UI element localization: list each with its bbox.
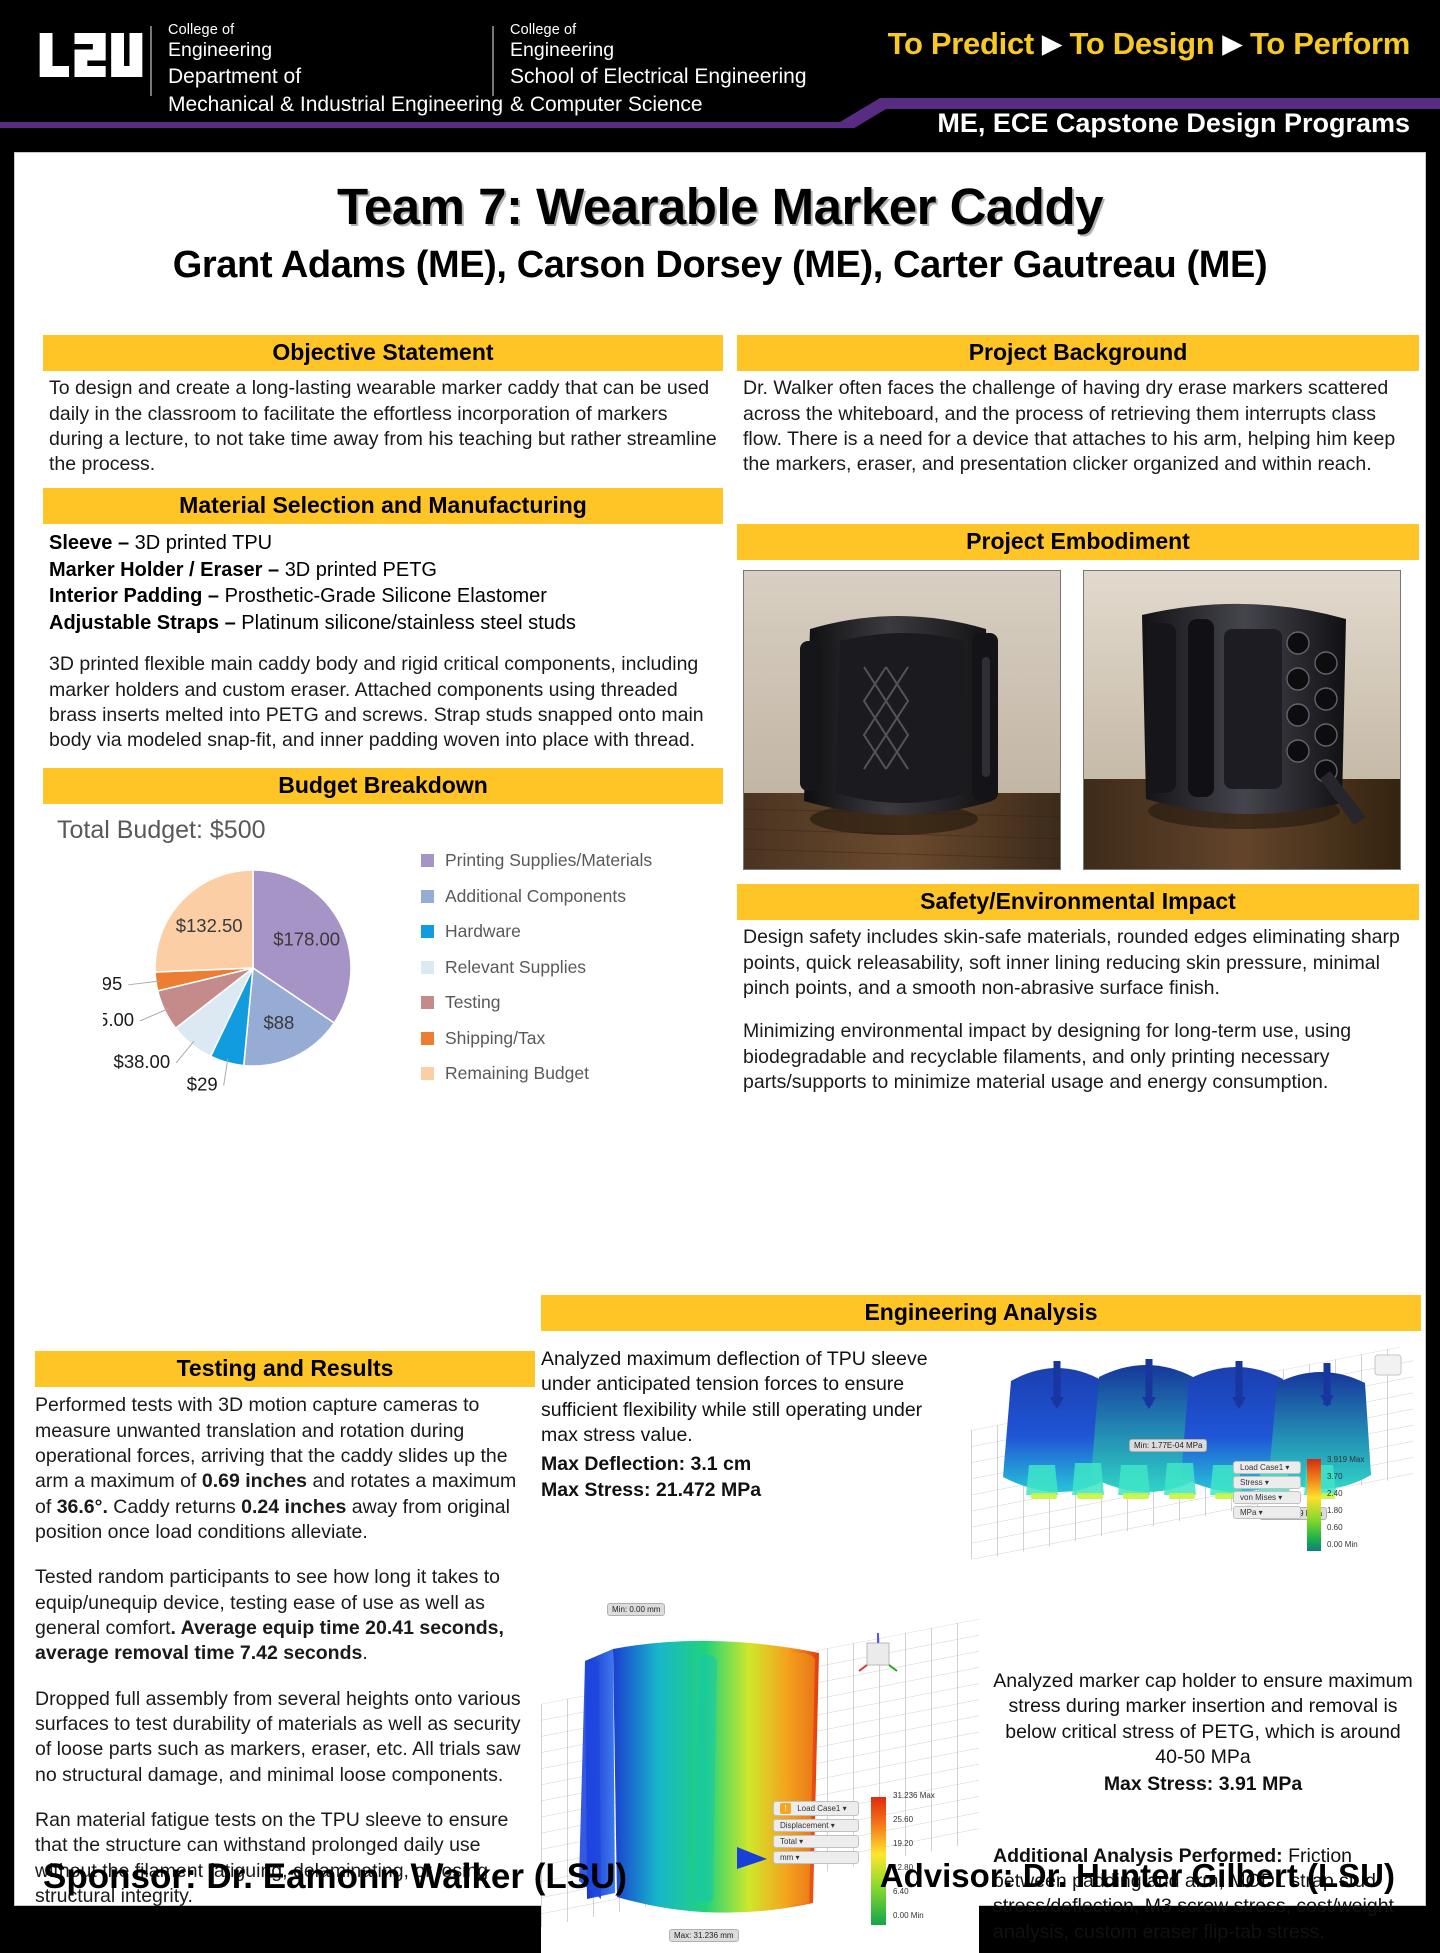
axis-triad-icon xyxy=(857,1631,901,1675)
pie-svg: $178.00$88$29$38.00$35.00$15.95$132.50 xyxy=(103,848,403,1098)
fea-top-min-tag: Min: 1.77E-04 MPa xyxy=(1129,1439,1207,1452)
fea-top-panel-row4: MPa xyxy=(1240,1508,1256,1517)
legend-swatch xyxy=(421,925,434,938)
budget-section: Budget Breakdown Total Budget: $500 $178… xyxy=(43,768,723,1108)
fea-bottom-panel-row4: mm xyxy=(780,1853,793,1862)
fea-top-colorbar xyxy=(1307,1459,1323,1551)
poster-canvas: Team 7: Wearable Marker Caddy Grant Adam… xyxy=(14,152,1426,1906)
material-paragraph: 3D printed flexible main caddy body and … xyxy=(49,652,717,753)
author-list: Grant Adams (ME), Carson Dorsey (ME), Ca… xyxy=(15,244,1425,287)
fea-image-top: Min: 1.77E-04 MPa Max: 3.919 MPa Load Ca… xyxy=(971,1347,1413,1559)
pie-slice-label: $15.95 xyxy=(103,973,122,994)
fea-image-bottom: Min: 0.00 mm Max: 31.236 mm ! Load Case1… xyxy=(541,1593,979,1953)
legend-swatch xyxy=(421,1067,434,1080)
legend-swatch xyxy=(421,961,434,974)
fea-bottom-panel-row2: Displacement xyxy=(780,1821,828,1830)
fea-bottom-min-tag: Min: 0.00 mm xyxy=(607,1603,665,1616)
safety-paragraph-2: Minimizing environmental impact by desig… xyxy=(743,1019,1413,1095)
legend-item: Printing Supplies/Materials xyxy=(421,852,652,870)
embodiment-photos xyxy=(737,570,1419,870)
pie-leader-line xyxy=(140,1009,168,1021)
testing-p2-c: . xyxy=(362,1642,367,1664)
pie-slice-label: $38.00 xyxy=(114,1051,171,1072)
embodiment-section: Project Embodiment xyxy=(737,524,1419,870)
analysis-bottom-row: Min: 0.00 mm Max: 31.236 mm ! Load Case1… xyxy=(541,1593,1421,1953)
material-heading: Material Selection and Manufacturing xyxy=(43,488,723,524)
material-label-3: Adjustable Straps – xyxy=(49,612,236,634)
fea-top-scale-3: 1.80 xyxy=(1327,1506,1364,1523)
pie-slice-label: $178.00 xyxy=(273,929,340,950)
fea-bottom-scale-5: 0.00 Min xyxy=(893,1911,935,1920)
budget-pie-chart: Total Budget: $500 $178.00$88$29$38.00$3… xyxy=(43,808,723,1108)
testing-paragraph-2: Tested random participants to see how lo… xyxy=(35,1565,535,1666)
tagline-perform: To Perform xyxy=(1250,26,1410,61)
testing-p1-f: 0.24 inches xyxy=(241,1496,346,1518)
legend-label: Testing xyxy=(445,994,500,1012)
legend-label: Printing Supplies/Materials xyxy=(445,852,652,870)
testing-p1-b: 0.69 inches xyxy=(202,1470,307,1492)
material-item-0: Sleeve – 3D printed TPU xyxy=(49,530,717,557)
testing-paragraph-3: Dropped full assembly from several heigh… xyxy=(35,1687,535,1788)
material-item-1: Marker Holder / Eraser – 3D printed PETG xyxy=(49,557,717,584)
chart-legend: Printing Supplies/MaterialsAdditional Co… xyxy=(421,852,652,1101)
dept-one-line3: Department of xyxy=(168,65,503,90)
analysis-max-stress: Max Stress: 21.472 MPa xyxy=(541,1479,761,1501)
background-section: Project Background Dr. Walker often face… xyxy=(737,335,1419,478)
pie-leader-line xyxy=(176,1041,194,1063)
pie-slice-label: $29 xyxy=(187,1074,218,1095)
analysis-intro: Analyzed maximum deflection of TPU sleev… xyxy=(541,1347,961,1448)
fea-bottom-panel-title: Load Case1 xyxy=(797,1804,840,1813)
background-text: Dr. Walker often faces the challenge of … xyxy=(743,376,1413,477)
legend-swatch xyxy=(421,890,434,903)
page-header: College of Engineering Department of Mec… xyxy=(0,0,1440,148)
fea-bottom-panel-row3: Total xyxy=(780,1837,797,1846)
testing-paragraph-1: Performed tests with 3D motion capture c… xyxy=(35,1393,535,1545)
capstone-subtitle: ME, ECE Capstone Design Programs xyxy=(937,108,1410,139)
dept-two-line3: School of Electrical Engineering xyxy=(510,65,807,90)
testing-heading: Testing and Results xyxy=(35,1351,535,1387)
tagline: To Predict ▶ To Design ▶ To Perform xyxy=(888,26,1410,62)
fea-top-panel-row2: Stress xyxy=(1240,1478,1263,1487)
testing-section: Testing and Results Performed tests with… xyxy=(35,1351,535,1909)
fea-top-scale-1: 3.70 xyxy=(1327,1472,1364,1489)
budget-heading: Budget Breakdown xyxy=(43,768,723,804)
dept-one-line2: Engineering xyxy=(168,39,503,62)
fea-bottom-scale-0: 31.236 Max xyxy=(893,1791,935,1815)
pie-slice-label: $132.50 xyxy=(176,915,243,936)
fea-bottom-scale-1: 25.60 xyxy=(893,1815,935,1839)
objective-text: To design and create a long-lasting wear… xyxy=(49,376,717,477)
material-value-2: Prosthetic-Grade Silicone Elastomer xyxy=(225,585,547,607)
legend-item: Relevant Supplies xyxy=(421,959,652,977)
legend-label: Shipping/Tax xyxy=(445,1030,545,1048)
dept-two-line1: College of xyxy=(510,22,807,39)
tagline-design: To Design xyxy=(1070,26,1215,61)
material-value-3: Platinum silicone/stainless steel studs xyxy=(241,612,576,634)
legend-label: Remaining Budget xyxy=(445,1065,589,1083)
material-list: Sleeve – 3D printed TPU Marker Holder / … xyxy=(49,530,717,636)
safety-heading: Safety/Environmental Impact xyxy=(737,884,1419,920)
legend-item: Hardware xyxy=(421,923,652,941)
sponsor-label: Sponsor: Dr. Eamonn Walker (LSU) xyxy=(43,1857,627,1897)
fea-bottom-max-tag: Max: 31.236 mm xyxy=(669,1929,739,1942)
legend-item: Shipping/Tax xyxy=(421,1030,652,1048)
material-value-0: 3D printed TPU xyxy=(135,532,272,554)
fea-bottom-panel: ! Load Case1 ▾ Displacement ▾ Total ▾ mm… xyxy=(773,1801,859,1864)
analysis-max-deflection: Max Deflection: 3.1 cm xyxy=(541,1453,751,1475)
pie-slice-label: $35.00 xyxy=(103,1009,134,1030)
analysis-right-max-stress: Max Stress: 3.91 MPa xyxy=(1104,1773,1302,1795)
legend-swatch xyxy=(421,996,434,1009)
fea-top-panel-title: Load Case1 xyxy=(1240,1463,1283,1472)
right-column: Project Background Dr. Walker often face… xyxy=(737,335,1419,1097)
tagline-predict: To Predict xyxy=(888,26,1034,61)
background-heading: Project Background xyxy=(737,335,1419,371)
triangle-right-icon: ▶ xyxy=(1042,30,1061,58)
legend-item: Remaining Budget xyxy=(421,1065,652,1083)
testing-p1-e: Caddy returns xyxy=(108,1496,241,1518)
dept-two-line2: Engineering xyxy=(510,39,807,62)
legend-swatch xyxy=(421,1032,434,1045)
page-title: Team 7: Wearable Marker Caddy xyxy=(15,177,1425,236)
material-label-0: Sleeve – xyxy=(49,532,129,554)
legend-item: Additional Components xyxy=(421,888,652,906)
triangle-right-icon-2: ▶ xyxy=(1223,30,1242,58)
objective-section: Objective Statement To design and create… xyxy=(43,335,723,478)
analysis-top-text: Analyzed maximum deflection of TPU sleev… xyxy=(541,1347,961,1559)
pie-leader-line xyxy=(128,981,160,985)
budget-total-label: Total Budget: $500 xyxy=(57,816,266,845)
header-divider-1 xyxy=(150,26,152,96)
analysis-right-text: Analyzed marker cap holder to ensure max… xyxy=(993,1593,1413,1953)
analysis-right-note: Analyzed marker cap holder to ensure max… xyxy=(993,1669,1413,1770)
material-item-3: Adjustable Straps – Platinum silicone/st… xyxy=(49,610,717,637)
fea-bottom-scale: 31.236 Max 25.60 19.20 12.80 6.40 0.00 M… xyxy=(893,1791,935,1920)
fea-top-scale-5: 0.00 Min xyxy=(1327,1540,1364,1557)
legend-label: Relevant Supplies xyxy=(445,959,586,977)
legend-label: Hardware xyxy=(445,923,521,941)
legend-item: Testing xyxy=(421,994,652,1012)
material-section: Material Selection and Manufacturing Sle… xyxy=(43,488,723,754)
testing-p1-d: 36.6°. xyxy=(57,1496,108,1518)
left-column: Objective Statement To design and create… xyxy=(43,335,723,1110)
lsu-logo xyxy=(36,28,146,82)
dept-one-line1: College of xyxy=(168,22,503,39)
fea-top-scale-4: 0.60 xyxy=(1327,1523,1364,1540)
material-label-2: Interior Padding – xyxy=(49,585,219,607)
safety-section: Safety/Environmental Impact Design safet… xyxy=(737,884,1419,1095)
material-label-1: Marker Holder / Eraser – xyxy=(49,559,279,581)
legend-label: Additional Components xyxy=(445,888,626,906)
embodiment-photo-1 xyxy=(743,570,1061,870)
fea-top-scale-0: 3.919 Max xyxy=(1327,1455,1364,1472)
advisor-label: Advisor: Dr. Hunter Gilbert (LSU) xyxy=(880,1857,1395,1895)
warning-icon: ! xyxy=(780,1803,791,1814)
embodiment-photo-2 xyxy=(1083,570,1401,870)
embodiment-heading: Project Embodiment xyxy=(737,524,1419,560)
safety-paragraph-1: Design safety includes skin-safe materia… xyxy=(743,925,1413,1001)
pie-slice-label: $88 xyxy=(263,1012,294,1033)
fea-top-scale-2: 2.40 xyxy=(1327,1489,1364,1506)
material-item-2: Interior Padding – Prosthetic-Grade Sili… xyxy=(49,583,717,610)
objective-heading: Objective Statement xyxy=(43,335,723,371)
fea-top-panel-row3: von Mises xyxy=(1240,1493,1276,1502)
fea-top-panel: Load Case1 ▾ Stress ▾ von Mises ▾ MPa ▾ xyxy=(1233,1461,1301,1519)
material-value-1: 3D printed PETG xyxy=(285,559,437,581)
legend-swatch xyxy=(421,854,434,867)
analysis-top-row: Analyzed maximum deflection of TPU sleev… xyxy=(541,1347,1421,1559)
fea-top-scale: 3.919 Max 3.70 2.40 1.80 0.60 0.00 Min xyxy=(1327,1455,1364,1557)
